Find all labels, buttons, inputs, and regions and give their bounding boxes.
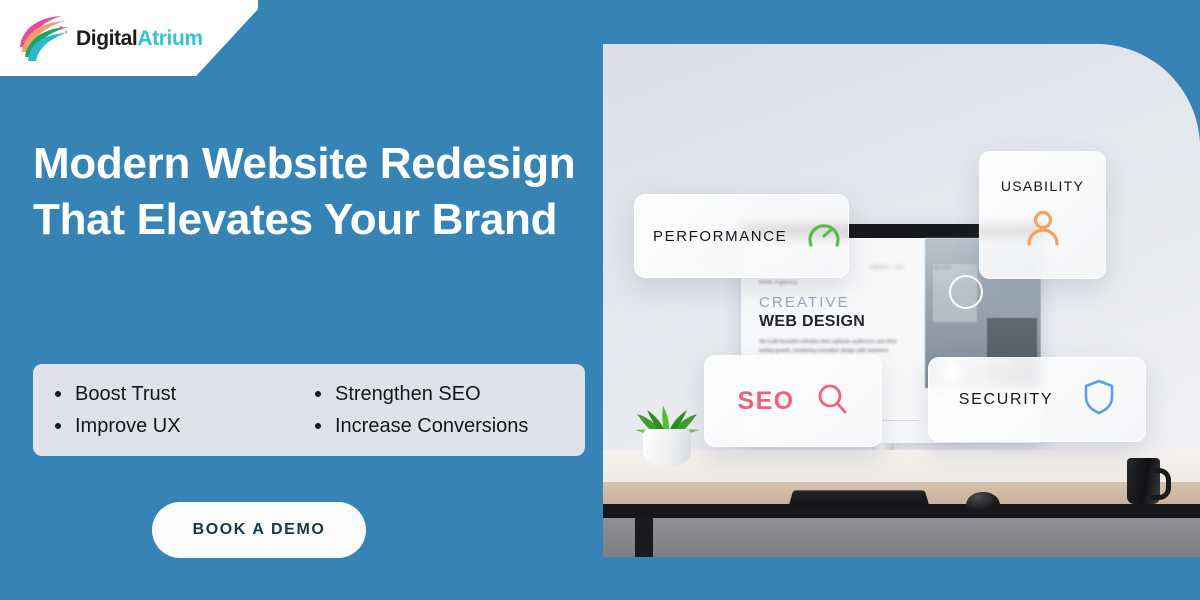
feature-card-performance[interactable]: PERFORMANCE (634, 194, 849, 278)
user-person-icon (1023, 208, 1063, 253)
feature-card-label: SEO (738, 387, 795, 416)
brand-word-secondary: Atrium (137, 27, 202, 50)
brand-logo-badge[interactable]: DigitalAtrium (0, 0, 258, 76)
desk-underside (603, 518, 1200, 557)
benefit-label: Strengthen SEO (335, 384, 481, 404)
keyboard (789, 490, 930, 506)
bullet-dot-icon (315, 391, 321, 397)
feature-card-usability[interactable]: USABILITY (979, 151, 1106, 279)
book-a-demo-button[interactable]: BOOK A DEMO (152, 502, 366, 558)
feature-card-label: USABILITY (1001, 178, 1084, 194)
benefits-list: Boost Trust Strengthen SEO Improve UX In… (33, 364, 585, 456)
list-item: Strengthen SEO (315, 384, 575, 404)
feature-card-seo[interactable]: SEO (704, 355, 882, 447)
bullet-dot-icon (315, 423, 321, 429)
desk-surface (603, 450, 1200, 482)
list-item: Improve UX (55, 416, 315, 436)
hero-banner: DigitalAtrium Modern Website Redesign Th… (0, 0, 1200, 600)
desk-leg (635, 518, 653, 557)
mouse (966, 492, 1000, 511)
monitor-nav-item: BLOG (934, 265, 952, 271)
monitor-nav-item: ABOUT US (870, 265, 904, 271)
feature-card-label: SECURITY (959, 391, 1054, 409)
brand-wordmark: DigitalAtrium (76, 28, 203, 49)
plant-pot (643, 429, 691, 466)
list-item: Increase Conversions (315, 416, 575, 436)
benefit-label: Increase Conversions (335, 416, 528, 436)
monitor-heading-bold: WEB DESIGN (759, 313, 865, 331)
feature-card-label: PERFORMANCE (653, 228, 787, 245)
hero-illustration-panel: HOME SERVICES ABOUT US BLOG Web Agency C… (603, 44, 1200, 557)
shield-icon (1083, 379, 1115, 420)
magnifier-search-icon (815, 382, 849, 421)
monitor-kicker-text: Web Agency (759, 280, 798, 286)
bullet-dot-icon (55, 423, 61, 429)
speedometer-gauge-icon (807, 217, 841, 256)
list-item: Boost Trust (55, 384, 315, 404)
page-title: Modern Website Redesign That Elevates Yo… (33, 136, 603, 249)
swoosh-arc-logo-icon (16, 13, 72, 63)
benefit-label: Boost Trust (75, 384, 176, 404)
bullet-dot-icon (55, 391, 61, 397)
feature-card-security[interactable]: SECURITY (928, 357, 1146, 442)
brand-word-primary: Digital (76, 27, 137, 50)
benefit-label: Improve UX (75, 416, 181, 436)
coffee-mug (1127, 458, 1160, 504)
monitor-heading-light: CREATIVE (759, 294, 850, 311)
